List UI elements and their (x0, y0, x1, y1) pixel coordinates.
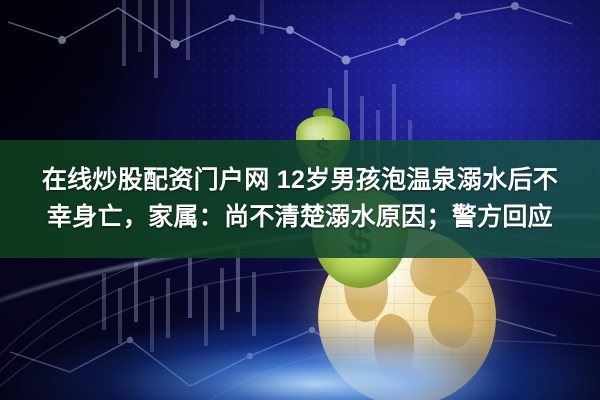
news-thumbnail: $ $ 在线炒股配资门户网 12岁男孩泡温泉溺水后不 幸身亡，家属：尚不清楚溺水… (0, 0, 600, 400)
headline-line-2: 幸身亡，家属：尚不清楚溺水原因；警方回应 (47, 202, 553, 233)
headline-band: 在线炒股配资门户网 12岁男孩泡温泉溺水后不 幸身亡，家属：尚不清楚溺水原因；警… (0, 140, 600, 258)
headline-line-1: 在线炒股配资门户网 12岁男孩泡温泉溺水后不 (42, 165, 558, 196)
